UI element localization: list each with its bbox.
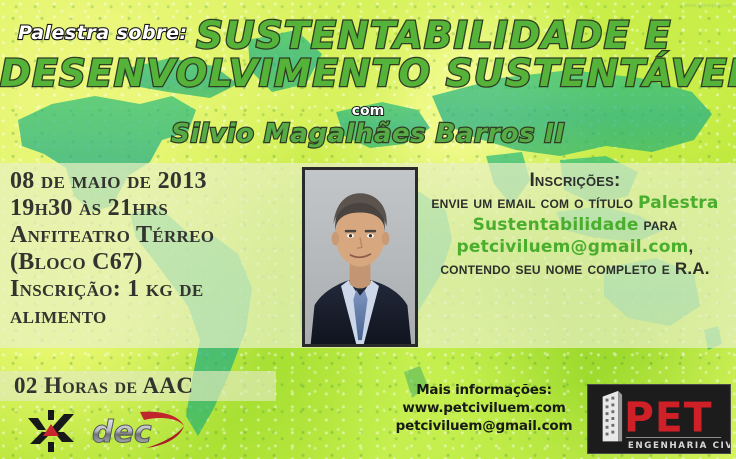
poster-header: www.exemplo.com Palestra sobre: SUSTENTA… bbox=[0, 0, 736, 163]
speaker-name: Silvio Magalhães Barros II bbox=[0, 119, 736, 149]
svg-text:PET: PET bbox=[624, 394, 713, 442]
title-line-1: SUSTENTABILIDADE E bbox=[0, 14, 736, 57]
event-fee: Inscrição: 1 kg de alimento bbox=[10, 276, 295, 330]
dec-logo-icon: dec bbox=[88, 410, 186, 452]
registration-line-3: contendo seu nome bbox=[440, 259, 582, 278]
contact-website[interactable]: www.petciviluem.com bbox=[378, 399, 590, 417]
event-venue-block: (Bloco C67) bbox=[10, 249, 295, 276]
event-time: 19h30 às 21hrs bbox=[10, 195, 295, 222]
highlight-sustentabilidade: Sustentabilidade bbox=[473, 215, 639, 235]
contact-heading: Mais informações: bbox=[378, 381, 590, 399]
pet-logo: PET ENGENHARIA CIVIL UEM bbox=[587, 384, 731, 454]
poster-canvas: www.exemplo.com Palestra sobre: SUSTENTA… bbox=[0, 0, 736, 459]
highlight-palestra: Palestra bbox=[638, 193, 719, 213]
event-date: 08 de maio de 2013 bbox=[10, 168, 295, 195]
registration-line-2-prefix: título bbox=[589, 193, 638, 212]
registration-email-comma: , bbox=[689, 237, 694, 256]
registration-line-2-suffix: para bbox=[639, 215, 678, 234]
with-label: com bbox=[0, 103, 736, 119]
watermark-text: www.exemplo.com bbox=[684, 3, 732, 9]
uem-logo-icon bbox=[24, 410, 82, 452]
contact-email[interactable]: petciviluem@gmail.com bbox=[378, 417, 590, 435]
registration-email[interactable]: petciviluem@gmail.com bbox=[457, 237, 689, 257]
speaker-photo bbox=[302, 167, 418, 347]
registration-line-4: completo e R.A. bbox=[587, 259, 709, 278]
contact-block: Mais informações: www.petciviluem.com pe… bbox=[378, 381, 590, 435]
svg-text:dec: dec bbox=[92, 415, 152, 450]
aac-hours-label: 02 Horas de AAC bbox=[14, 373, 193, 399]
registration-block: Inscrições: envie um email com o título … bbox=[425, 170, 725, 280]
event-details-block: 08 de maio de 2013 19h30 às 21hrs Anfite… bbox=[10, 168, 295, 330]
registration-line-1: envie um email com o bbox=[431, 193, 583, 212]
svg-text:ENGENHARIA CIVIL UEM: ENGENHARIA CIVIL UEM bbox=[628, 441, 730, 451]
event-venue: Anfiteatro Térreo bbox=[10, 222, 295, 249]
building-icon bbox=[603, 391, 622, 442]
title-line-2: DESENVOLVIMENTO SUSTENTÁVEL bbox=[0, 52, 736, 95]
registration-heading: Inscrições: bbox=[425, 170, 725, 192]
